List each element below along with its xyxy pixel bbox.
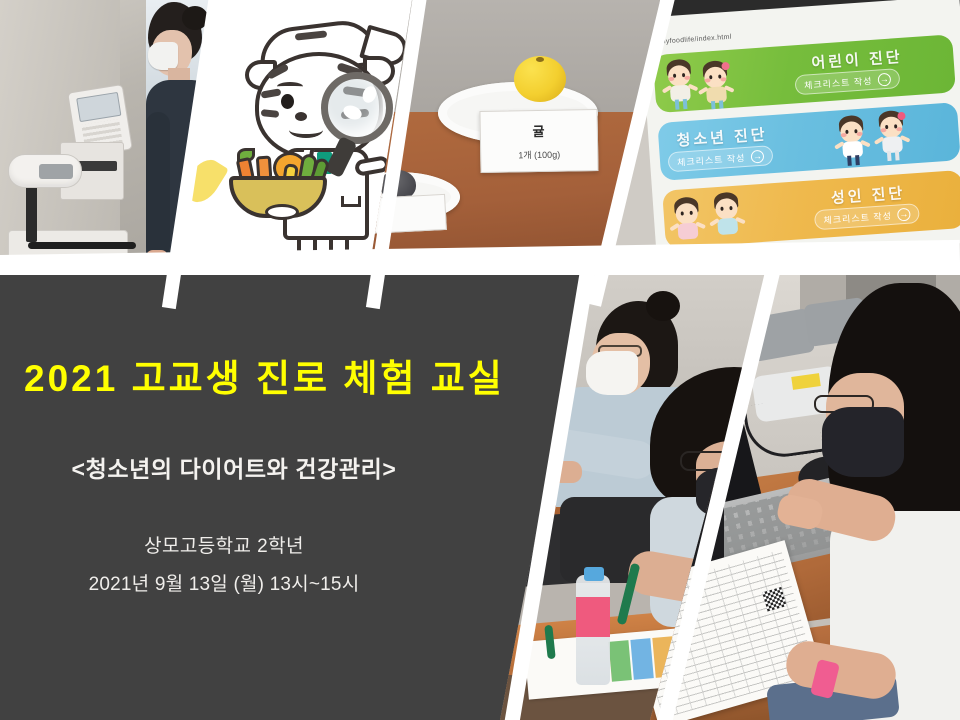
water-bottle-label: [576, 597, 610, 637]
mascot-coat-pocket: [341, 196, 361, 207]
arrow-right-icon: →: [897, 207, 911, 221]
tangerine-food-model: [514, 56, 566, 102]
website-screen: myfoodlife/index.html: [640, 0, 960, 264]
arrow-right-icon: →: [751, 149, 765, 163]
adult-face: [675, 202, 698, 224]
browser-url-text: myfoodlife/index.html: [659, 34, 731, 46]
school-name: 상모고등학교 2학년: [24, 531, 424, 558]
adult-eye: [720, 207, 723, 211]
adult-eye: [729, 206, 732, 210]
kid-figure: [697, 60, 734, 112]
adult-eye: [690, 211, 693, 215]
adult-figure: [708, 191, 745, 243]
checklist-button-children[interactable]: 체크리스트 작성 →: [794, 68, 901, 95]
mascot-nose: [295, 112, 307, 121]
title-panel: 2021 고교생 진로 체험 교실 <청소년의 다이어트와 건강관리> 상모고등…: [0, 275, 600, 720]
screen-row-children[interactable]: 어린이 진단 체크리스트 작성 →: [653, 34, 956, 113]
face-mask-icon: [822, 407, 904, 477]
teen-figure: [833, 114, 870, 166]
food-label-amount: 1개 (100g): [518, 148, 560, 162]
page-title: 2021 고교생 진로 체험 교실: [24, 348, 514, 402]
checklist-button-label: 체크리스트 작성: [804, 73, 873, 91]
arrow-right-icon: →: [878, 72, 892, 86]
teen-leg: [855, 155, 860, 165]
adults-illustration-icon: [668, 187, 771, 246]
adult-figure: [669, 196, 706, 248]
kid-leg: [711, 101, 716, 111]
teens-illustration-icon: [833, 106, 941, 169]
water-bottle-cap: [584, 567, 604, 581]
kid-figure: [661, 58, 698, 110]
children-illustration-icon: [661, 52, 756, 110]
kid-leg: [675, 99, 680, 109]
checklist-button-label: 체크리스트 작성: [823, 208, 892, 226]
kid-leg: [719, 100, 724, 110]
face-mask-icon: [586, 351, 638, 395]
teen-leg: [887, 151, 892, 161]
screen-row-teens[interactable]: 청소년 진단 체크리스트 작성 →: [657, 102, 960, 181]
event-datetime: 2021년 9월 13일 (월) 13시~15시: [24, 569, 424, 596]
analyzer-console: [8, 154, 82, 188]
page-subtitle: <청소년의 다이어트와 건강관리>: [24, 450, 444, 484]
mascot-eyebrow: [277, 82, 303, 91]
mascot-mouth: [289, 122, 323, 138]
checklist-button-label: 체크리스트 작성: [677, 151, 746, 169]
mascot-eye: [281, 94, 294, 109]
adult-eye: [681, 211, 684, 215]
teen-leg: [895, 150, 900, 160]
checklist-button-adults[interactable]: 체크리스트 작성 →: [814, 203, 921, 230]
basket-handle: [265, 204, 299, 220]
kid-leg: [683, 99, 688, 109]
screen-row-adults[interactable]: 성인 진단 체크리스트 작성 →: [662, 170, 960, 249]
poster-canvas: 귤 1개 (100g) myfoodlife/index.html: [0, 0, 960, 720]
face-mask-icon: [148, 42, 178, 70]
student-a-hair-bun: [646, 291, 680, 321]
teen-leg: [847, 156, 852, 166]
student-arm: [146, 112, 170, 257]
food-label-title: 귤: [532, 121, 545, 140]
top-photo-row: 귤 1개 (100g) myfoodlife/index.html: [0, 0, 960, 265]
body-composition-analyzer: [8, 150, 138, 265]
adult-face: [715, 198, 738, 220]
teen-figure: [873, 110, 910, 162]
food-label-card: 귤 1개 (100g): [479, 109, 598, 173]
